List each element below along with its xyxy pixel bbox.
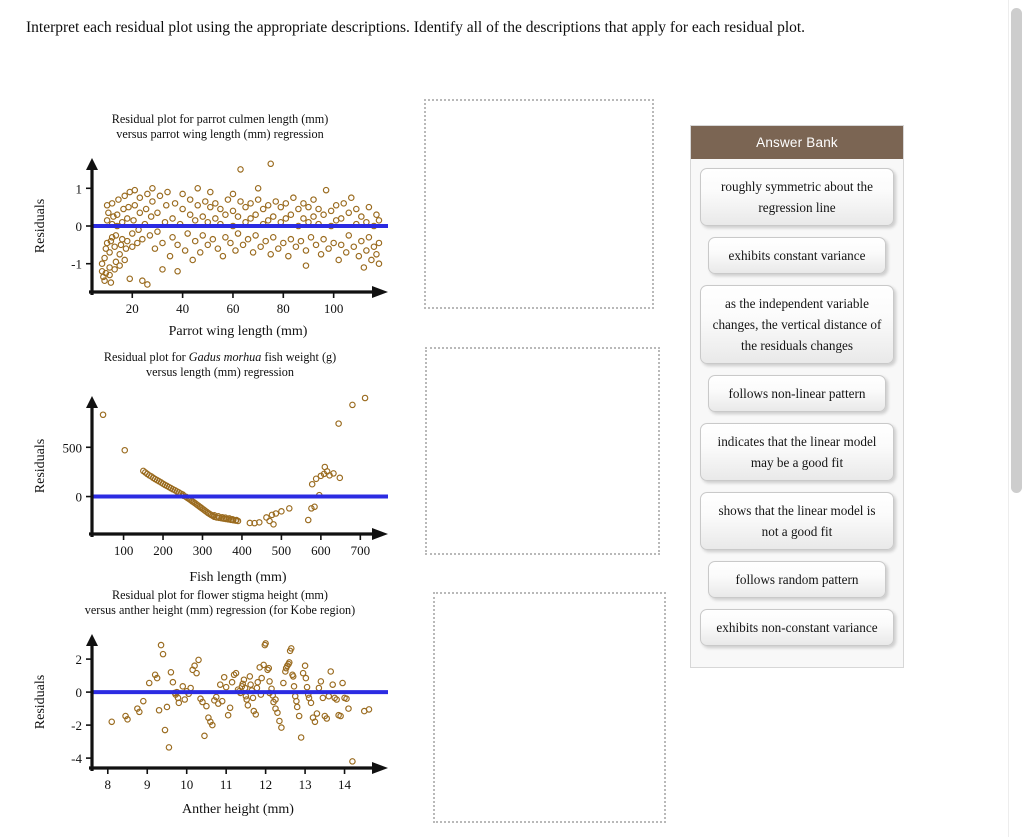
data-point bbox=[321, 212, 326, 217]
data-point bbox=[374, 252, 379, 257]
data-point bbox=[248, 201, 253, 206]
data-point bbox=[361, 265, 366, 270]
data-point bbox=[308, 235, 313, 240]
data-point bbox=[311, 214, 316, 219]
data-point bbox=[175, 269, 180, 274]
data-point bbox=[122, 257, 127, 262]
data-point bbox=[166, 745, 171, 750]
data-point bbox=[187, 212, 192, 217]
data-point bbox=[346, 706, 351, 711]
answer-bank-item[interactable]: as the independent variable changes, the… bbox=[700, 285, 894, 364]
data-point bbox=[341, 201, 346, 206]
data-point bbox=[279, 509, 284, 514]
data-point bbox=[104, 218, 109, 223]
data-point bbox=[253, 212, 258, 217]
x-tick-label: 80 bbox=[277, 301, 290, 316]
data-point bbox=[359, 214, 364, 219]
x-tick-label: 100 bbox=[114, 543, 134, 558]
data-point bbox=[180, 684, 185, 689]
plot-title-fish: Residual plot for Gadus morhua fish weig… bbox=[55, 350, 385, 380]
data-point bbox=[147, 680, 152, 685]
data-point bbox=[220, 253, 225, 258]
y-axis-arrow bbox=[86, 396, 98, 408]
y-axis-arrow bbox=[86, 634, 98, 646]
data-point bbox=[204, 703, 209, 708]
data-point bbox=[328, 208, 333, 213]
data-point bbox=[193, 218, 198, 223]
data-point bbox=[208, 189, 213, 194]
x-tick-label: 20 bbox=[126, 301, 139, 316]
data-point bbox=[148, 214, 153, 219]
data-point bbox=[182, 248, 187, 253]
answer-bank-item[interactable]: indicates that the linear model may be a… bbox=[700, 423, 894, 481]
data-point bbox=[125, 238, 130, 243]
data-point bbox=[268, 161, 273, 166]
data-point bbox=[155, 229, 160, 234]
data-point bbox=[268, 252, 273, 257]
answer-bank-list: roughly symmetric about the regression l… bbox=[691, 159, 903, 646]
data-point bbox=[258, 244, 263, 249]
data-point bbox=[221, 675, 226, 680]
data-point bbox=[102, 255, 107, 260]
data-point bbox=[193, 238, 198, 243]
x-axis-label: Anther height (mm) bbox=[182, 802, 294, 816]
data-point bbox=[336, 257, 341, 262]
data-point bbox=[140, 278, 145, 283]
question-prompt: Interpret each residual plot using the a… bbox=[26, 14, 906, 41]
x-tick-label: 40 bbox=[176, 301, 189, 316]
data-point bbox=[180, 206, 185, 211]
data-point bbox=[235, 231, 240, 236]
data-point bbox=[132, 187, 137, 192]
data-point bbox=[130, 244, 135, 249]
x-axis-label: Parrot wing length (mm) bbox=[169, 324, 308, 338]
data-point bbox=[229, 680, 234, 685]
data-point bbox=[109, 201, 114, 206]
data-point bbox=[351, 244, 356, 249]
data-point bbox=[223, 212, 228, 217]
data-point bbox=[254, 685, 259, 690]
data-point bbox=[168, 670, 173, 675]
plot-title-parrot: Residual plot for parrot culmen length (… bbox=[55, 112, 385, 142]
answer-bank-item[interactable]: exhibits non-constant variance bbox=[700, 609, 894, 646]
data-point bbox=[106, 210, 111, 215]
data-point bbox=[314, 711, 319, 716]
data-point bbox=[316, 206, 321, 211]
answer-bank-item[interactable]: follows non-linear pattern bbox=[708, 375, 886, 412]
x-tick-label: 700 bbox=[351, 543, 371, 558]
data-point bbox=[196, 657, 201, 662]
data-point bbox=[180, 191, 185, 196]
data-point bbox=[243, 204, 248, 209]
data-point bbox=[255, 197, 260, 202]
data-point bbox=[143, 206, 148, 211]
data-point bbox=[116, 197, 121, 202]
data-point bbox=[156, 708, 161, 713]
data-point bbox=[135, 240, 140, 245]
data-point bbox=[215, 246, 220, 251]
data-point bbox=[288, 212, 293, 217]
data-point bbox=[218, 682, 223, 687]
x-tick-label: 500 bbox=[272, 543, 292, 558]
data-point bbox=[213, 216, 218, 221]
data-point bbox=[349, 195, 354, 200]
data-point bbox=[118, 242, 123, 247]
x-axis-arrow bbox=[372, 286, 388, 298]
data-point bbox=[112, 244, 117, 249]
data-point bbox=[230, 208, 235, 213]
y-tick-label: 0 bbox=[76, 490, 83, 505]
data-point bbox=[125, 216, 130, 221]
data-point bbox=[320, 695, 325, 700]
data-point bbox=[164, 704, 169, 709]
x-tick-label: 300 bbox=[193, 543, 213, 558]
data-point bbox=[172, 201, 177, 206]
plot-title-line2: versus length (mm) regression bbox=[55, 365, 385, 380]
data-point bbox=[247, 674, 252, 679]
x-tick-label: 60 bbox=[226, 301, 239, 316]
data-point bbox=[286, 253, 291, 258]
data-point bbox=[205, 242, 210, 247]
data-point bbox=[259, 675, 264, 680]
data-point bbox=[283, 216, 288, 221]
data-point bbox=[225, 197, 230, 202]
data-point bbox=[346, 233, 351, 238]
data-point bbox=[318, 679, 323, 684]
page-scrollbar-track[interactable] bbox=[1008, 0, 1024, 837]
data-point bbox=[150, 199, 155, 204]
data-point bbox=[157, 193, 162, 198]
y-axis-label: Residuals bbox=[33, 199, 48, 253]
data-point bbox=[328, 669, 333, 674]
data-point bbox=[200, 233, 205, 238]
data-point bbox=[230, 191, 235, 196]
data-point bbox=[141, 698, 146, 703]
data-point bbox=[304, 684, 309, 689]
question-page: Interpret each residual plot using the a… bbox=[0, 0, 1024, 837]
data-point bbox=[150, 186, 155, 191]
data-point bbox=[369, 257, 374, 262]
data-point bbox=[213, 201, 218, 206]
data-point bbox=[296, 206, 301, 211]
data-point bbox=[267, 679, 272, 684]
y-tick-label: -1 bbox=[71, 257, 82, 272]
data-point bbox=[108, 280, 113, 285]
data-point bbox=[277, 718, 282, 723]
data-point bbox=[344, 250, 349, 255]
data-point bbox=[350, 402, 355, 407]
y-tick-label: 1 bbox=[76, 181, 83, 196]
x-axis-arrow bbox=[372, 528, 388, 540]
data-point bbox=[260, 206, 265, 211]
data-point bbox=[313, 242, 318, 247]
data-point bbox=[117, 263, 122, 268]
data-point bbox=[160, 267, 165, 272]
data-point bbox=[145, 282, 150, 287]
data-point bbox=[364, 248, 369, 253]
data-point bbox=[245, 703, 250, 708]
data-point bbox=[195, 203, 200, 208]
answer-bank-item[interactable]: roughly symmetric about the regression l… bbox=[700, 168, 894, 226]
data-point bbox=[279, 725, 284, 730]
plot-title-line2: versus anther height (mm) regression (fo… bbox=[55, 603, 385, 618]
data-point bbox=[248, 682, 253, 687]
data-point bbox=[244, 697, 249, 702]
data-point bbox=[123, 246, 128, 251]
data-point bbox=[303, 263, 308, 268]
data-point bbox=[303, 675, 308, 680]
data-point bbox=[350, 759, 355, 764]
data-point bbox=[152, 246, 157, 251]
data-point bbox=[167, 253, 172, 258]
answer-bank-item[interactable]: exhibits constant variance bbox=[708, 237, 886, 274]
data-point bbox=[376, 218, 381, 223]
data-point bbox=[240, 242, 245, 247]
data-point bbox=[302, 663, 307, 668]
data-point bbox=[253, 233, 258, 238]
data-point bbox=[309, 482, 314, 487]
data-point bbox=[117, 252, 122, 257]
dropzone-fish[interactable] bbox=[425, 347, 660, 555]
data-point bbox=[266, 665, 271, 670]
residual-plot-flower: Residual plot for flower stigma height (… bbox=[30, 588, 410, 816]
data-point bbox=[175, 242, 180, 247]
data-point bbox=[137, 210, 142, 215]
plot-title-line1: Residual plot for parrot culmen length (… bbox=[55, 112, 385, 127]
data-point bbox=[376, 240, 381, 245]
data-point bbox=[264, 515, 269, 520]
data-point bbox=[356, 253, 361, 258]
data-point bbox=[366, 707, 371, 712]
data-point bbox=[271, 214, 276, 219]
data-point bbox=[359, 238, 364, 243]
data-point bbox=[306, 204, 311, 209]
data-point bbox=[308, 700, 313, 705]
data-point bbox=[155, 210, 160, 215]
data-point bbox=[374, 212, 379, 217]
plot-title-line2: versus parrot wing length (mm) regressio… bbox=[55, 127, 385, 142]
y-axis-arrow bbox=[86, 158, 98, 170]
x-tick-label: 12 bbox=[259, 777, 272, 792]
data-point bbox=[185, 231, 190, 236]
data-point bbox=[283, 201, 288, 206]
data-point bbox=[225, 713, 230, 718]
x-axis-arrow bbox=[372, 762, 388, 774]
data-point bbox=[200, 214, 205, 219]
plot-title-line1: Residual plot for flower stigma height (… bbox=[55, 588, 385, 603]
data-point bbox=[281, 680, 286, 685]
data-point bbox=[210, 237, 215, 242]
data-point bbox=[263, 238, 268, 243]
data-point bbox=[187, 197, 192, 202]
y-tick-label: 500 bbox=[63, 440, 83, 455]
data-point bbox=[271, 522, 276, 527]
data-point bbox=[271, 235, 276, 240]
data-point bbox=[346, 210, 351, 215]
data-point bbox=[316, 685, 321, 690]
data-point bbox=[366, 235, 371, 240]
data-point bbox=[330, 682, 335, 687]
data-point bbox=[130, 231, 135, 236]
data-point bbox=[366, 204, 371, 209]
data-point bbox=[321, 237, 326, 242]
data-point bbox=[293, 244, 298, 249]
data-point bbox=[278, 204, 283, 209]
data-point bbox=[337, 475, 342, 480]
data-point bbox=[233, 248, 238, 253]
data-point bbox=[306, 517, 311, 522]
data-point bbox=[126, 204, 131, 209]
data-point bbox=[248, 216, 253, 221]
answer-bank-panel: Answer Bank roughly symmetric about the … bbox=[690, 125, 904, 668]
data-point bbox=[203, 199, 208, 204]
data-point bbox=[160, 651, 165, 656]
x-tick-label: 600 bbox=[311, 543, 331, 558]
data-point bbox=[162, 727, 167, 732]
x-tick-label: 14 bbox=[338, 777, 352, 792]
x-tick-label: 400 bbox=[232, 543, 252, 558]
data-point bbox=[318, 252, 323, 257]
data-point bbox=[202, 733, 207, 738]
data-point bbox=[160, 240, 165, 245]
y-tick-label: 2 bbox=[76, 652, 83, 667]
data-point bbox=[376, 261, 381, 266]
data-point bbox=[301, 201, 306, 206]
data-point bbox=[227, 705, 232, 710]
data-point bbox=[276, 246, 281, 251]
answer-bank-item[interactable]: follows random pattern bbox=[708, 561, 886, 598]
data-point bbox=[112, 267, 117, 272]
data-point bbox=[245, 237, 250, 242]
y-axis-label: Residuals bbox=[33, 439, 48, 493]
data-point bbox=[170, 216, 175, 221]
data-point bbox=[336, 421, 341, 426]
data-point bbox=[326, 694, 331, 699]
data-point bbox=[287, 506, 292, 511]
data-point bbox=[208, 204, 213, 209]
plot-canvas-fish: 1002003004005006007005000Fish length (mm… bbox=[30, 386, 390, 584]
x-tick-label: 10 bbox=[180, 777, 193, 792]
data-point bbox=[194, 670, 199, 675]
answer-bank-title: Answer Bank bbox=[691, 126, 903, 159]
x-tick-label: 100 bbox=[324, 301, 344, 316]
plot-canvas-flower: 89101112131420-2-4Anther height (mm)Resi… bbox=[30, 624, 390, 816]
x-tick-label: 13 bbox=[299, 777, 312, 792]
dropzone-flower[interactable] bbox=[433, 592, 666, 823]
data-point bbox=[195, 186, 200, 191]
data-point bbox=[137, 195, 142, 200]
data-point bbox=[294, 704, 299, 709]
data-point bbox=[140, 237, 145, 242]
data-point bbox=[147, 233, 152, 238]
x-tick-label: 200 bbox=[153, 543, 173, 558]
data-point bbox=[107, 250, 112, 255]
data-point bbox=[323, 187, 328, 192]
plot-title-line1: Residual plot for Gadus morhua fish weig… bbox=[55, 350, 385, 365]
data-point bbox=[122, 193, 127, 198]
data-point bbox=[131, 218, 136, 223]
residual-plot-fish: Residual plot for Gadus morhua fish weig… bbox=[30, 350, 410, 584]
data-point bbox=[266, 218, 271, 223]
data-point bbox=[281, 240, 286, 245]
data-point bbox=[298, 238, 303, 243]
data-point bbox=[250, 250, 255, 255]
data-point bbox=[228, 240, 233, 245]
plot-title-flower: Residual plot for flower stigma height (… bbox=[55, 588, 385, 618]
data-point bbox=[188, 685, 193, 690]
data-point bbox=[303, 248, 308, 253]
x-tick-label: 11 bbox=[220, 777, 233, 792]
data-point bbox=[100, 412, 105, 417]
data-point bbox=[132, 203, 137, 208]
y-tick-label: 0 bbox=[76, 685, 83, 700]
data-point bbox=[223, 235, 228, 240]
data-point bbox=[291, 684, 296, 689]
y-axis-label: Residuals bbox=[33, 675, 48, 729]
data-point bbox=[145, 191, 150, 196]
y-tick-label: -4 bbox=[71, 751, 82, 766]
data-point bbox=[326, 246, 331, 251]
data-point bbox=[238, 167, 243, 172]
data-point bbox=[266, 203, 271, 208]
data-point bbox=[339, 216, 344, 221]
residual-plot-parrot: Residual plot for parrot culmen length (… bbox=[30, 112, 410, 338]
data-point bbox=[296, 713, 301, 718]
data-point bbox=[238, 199, 243, 204]
data-point bbox=[235, 214, 240, 219]
answer-bank-item[interactable]: shows that the linear model is not a goo… bbox=[700, 492, 894, 550]
data-point bbox=[273, 199, 278, 204]
data-point bbox=[333, 203, 338, 208]
data-point bbox=[291, 195, 296, 200]
data-point bbox=[339, 242, 344, 247]
data-point bbox=[340, 680, 345, 685]
data-point bbox=[311, 197, 316, 202]
data-point bbox=[322, 464, 327, 469]
data-point bbox=[164, 203, 169, 208]
data-point bbox=[223, 684, 228, 689]
data-point bbox=[371, 244, 376, 249]
data-point bbox=[170, 680, 175, 685]
x-axis-label: Fish length (mm) bbox=[189, 570, 287, 584]
x-tick-label: 8 bbox=[105, 777, 112, 792]
data-point bbox=[301, 216, 306, 221]
data-point bbox=[250, 695, 255, 700]
data-point bbox=[170, 235, 175, 240]
data-point bbox=[362, 395, 367, 400]
data-point bbox=[198, 250, 203, 255]
data-point bbox=[331, 240, 336, 245]
data-point bbox=[165, 189, 170, 194]
data-point bbox=[158, 642, 163, 647]
x-tick-label: 9 bbox=[144, 777, 151, 792]
data-point bbox=[255, 186, 260, 191]
data-point bbox=[218, 206, 223, 211]
data-point bbox=[109, 719, 114, 724]
data-point bbox=[127, 276, 132, 281]
data-point bbox=[182, 697, 187, 702]
dropzone-parrot[interactable] bbox=[424, 99, 654, 309]
data-point bbox=[298, 735, 303, 740]
data-point bbox=[122, 448, 127, 453]
y-tick-label: 0 bbox=[76, 219, 83, 234]
plot-canvas-parrot: 2040608010010-1Parrot wing length (mm)Re… bbox=[30, 148, 390, 338]
data-point bbox=[190, 257, 195, 262]
data-point bbox=[99, 261, 104, 266]
page-scrollbar-thumb[interactable] bbox=[1011, 8, 1022, 493]
y-tick-label: -2 bbox=[71, 718, 82, 733]
data-point bbox=[354, 206, 359, 211]
